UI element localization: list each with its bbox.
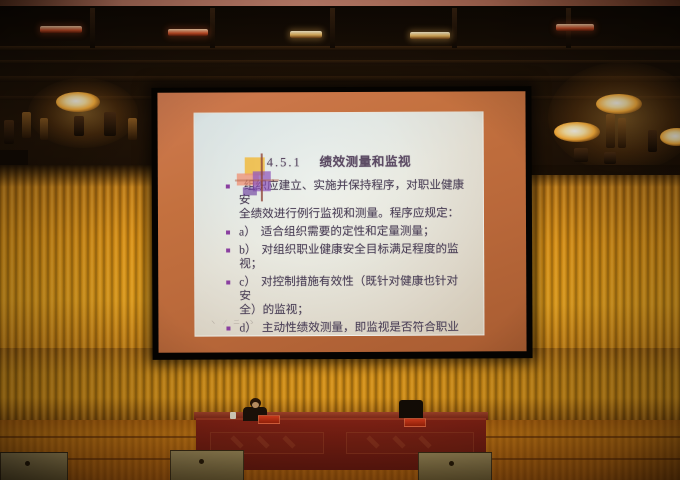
truss-post	[452, 8, 457, 48]
truss-post	[90, 8, 95, 48]
stage-edge-plate	[0, 452, 68, 480]
list-item: d）主动性绩效测量，即监视是否符合职业健 康安全方案、控制措施和运行准则；	[225, 320, 467, 336]
stage-edge-plate	[170, 450, 244, 480]
bullet-line: 视；	[239, 257, 262, 270]
stage-tube-light	[168, 29, 208, 36]
light-fixture	[4, 120, 14, 144]
plate-bolt-hole	[449, 461, 454, 466]
stage-tube-light	[410, 32, 450, 39]
bullet-line: 对控制措施有效性（既针对健康也针对安	[239, 274, 458, 302]
truss-beam	[0, 60, 680, 64]
plate-bolt-hole	[25, 461, 30, 466]
truss-post	[210, 8, 215, 48]
stage-tube-light	[40, 26, 82, 33]
bullet-marker: b）	[239, 243, 256, 256]
bullet-line: 全绩效进行例行监视和测量。程序应规定：	[239, 207, 459, 221]
light-fixture	[648, 130, 657, 152]
stage-spotlight	[56, 92, 100, 112]
bullet-line: 适合组织需要的定性和定量测量；	[261, 225, 435, 239]
light-fixture	[606, 114, 615, 148]
bullet-line: 主动性绩效测量，即监视是否符合职业健	[239, 320, 459, 336]
stage-spotlight	[596, 94, 642, 114]
light-fixture	[574, 148, 588, 162]
bullet-line: 全）的监视；	[239, 303, 309, 316]
light-fixture	[22, 112, 31, 138]
screen-frame: 4.5.1 绩效测量和监视 组织应建立、实施并保持程序，对职业健康安 全绩效进行…	[157, 91, 526, 353]
light-fixture	[618, 118, 626, 148]
person-face	[252, 402, 259, 408]
truss-beam	[0, 76, 680, 82]
slide-title: 4.5.1 绩效测量和监视	[267, 150, 473, 170]
slide-title-text: 绩效测量和监视	[319, 155, 411, 169]
drinking-cup	[230, 412, 236, 419]
plate-bolt-hole	[199, 459, 204, 464]
projection-screen[interactable]: 4.5.1 绩效测量和监视 组织应建立、实施并保持程序，对职业健康安 全绩效进行…	[151, 86, 532, 360]
empty-chair	[399, 400, 423, 418]
name-placard	[258, 415, 280, 424]
stage-tube-light	[290, 31, 322, 38]
bullet-marker: a）	[239, 225, 256, 238]
light-fixture	[40, 118, 48, 140]
truss-post	[330, 8, 335, 48]
light-fixture	[128, 118, 137, 140]
light-fixture	[104, 112, 116, 136]
bullet-line: 对组织职业健康安全目标满足程度的监	[261, 242, 458, 256]
slide-content: 4.5.1 绩效测量和监视 组织应建立、实施并保持程序，对职业健康安 全绩效进行…	[195, 112, 484, 336]
powerpoint-ornament-icon	[235, 153, 289, 203]
light-fixture	[74, 116, 84, 136]
slide-surface: 4.5.1 绩效测量和监视 组织应建立、实施并保持程序，对职业健康安 全绩效进行…	[194, 111, 485, 336]
truss-beam	[0, 46, 680, 51]
table-front-panel	[346, 432, 474, 454]
stage-spotlight	[554, 122, 600, 142]
name-placard	[404, 418, 426, 427]
light-fixture	[604, 152, 616, 164]
auditorium-scene: 4.5.1 绩效测量和监视 组织应建立、实施并保持程序，对职业健康安 全绩效进行…	[0, 0, 680, 480]
stage-edge-plate	[418, 452, 492, 480]
stage-tube-light	[556, 24, 594, 31]
bullet-marker: c）	[239, 275, 256, 288]
slide-footer-mark: ヽ ∕ ニ ゝ	[209, 317, 257, 327]
list-item: c）对控制措施有效性（既针对健康也针对安 全）的监视；	[225, 274, 467, 318]
list-item: a）适合组织需要的定性和定量测量；	[225, 225, 467, 240]
list-item: b）对组织职业健康安全目标满足程度的监 视；	[225, 242, 467, 271]
